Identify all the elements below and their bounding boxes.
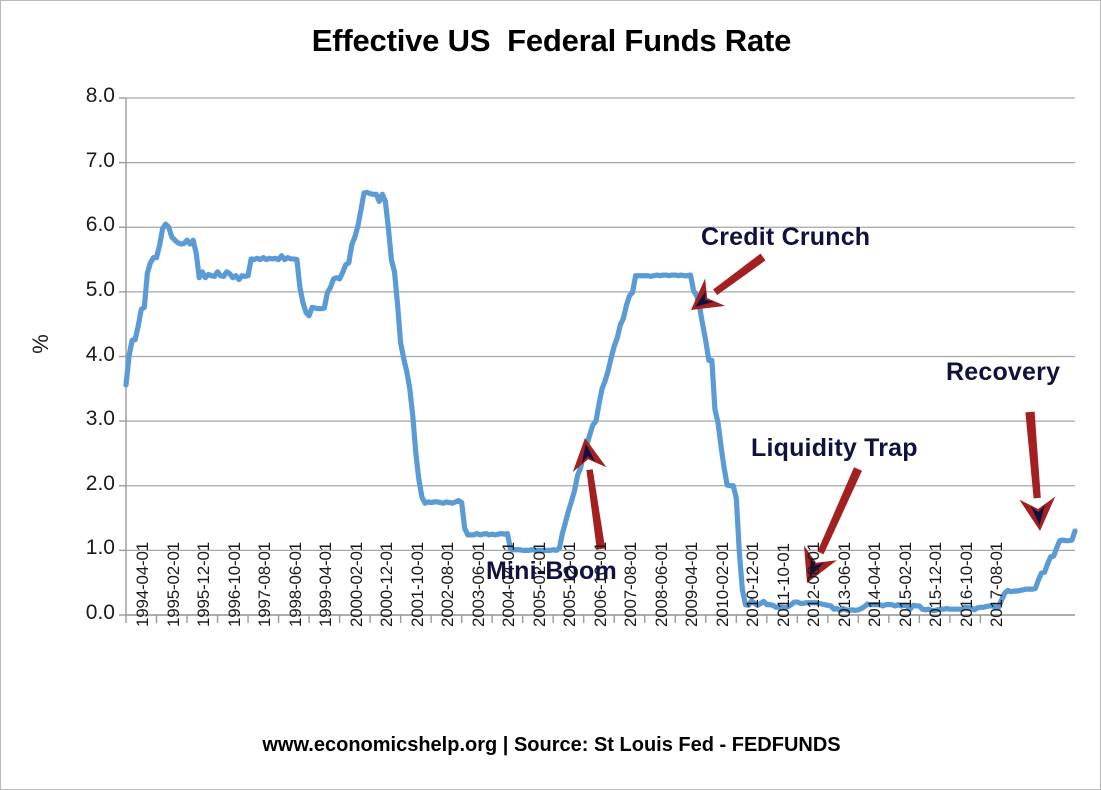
x-axis-tick-label: 1998-06-01 [286,542,306,627]
annotation-label-mini-boom: Mini-Boom [486,557,617,586]
x-axis-tick-label: 1995-12-01 [194,542,214,627]
x-axis-tick-label: 1999-04-01 [316,542,336,627]
x-axis-tick-label: 2007-08-01 [621,542,641,627]
annotation-label-liquidity-trap: Liquidity Trap [751,434,918,463]
x-axis-tick-label: 2017-08-01 [987,542,1007,627]
y-axis-tick-label: 2.0 [45,472,115,496]
annotation-label-credit-crunch: Credit Crunch [701,223,870,252]
plot-area [1,1,1101,790]
x-axis-tick-label: 1994-04-01 [133,542,153,627]
x-axis-tick-label: 2014-04-01 [865,542,885,627]
x-axis-tick-label: 2002-08-01 [438,542,458,627]
x-axis-tick-label: 2008-06-01 [652,542,672,627]
y-axis-tick-label: 5.0 [45,278,115,302]
x-axis-tick-label: 2016-10-01 [957,542,977,627]
annotation-arrows [573,254,1055,583]
annotation-label-recovery: Recovery [946,358,1060,387]
x-axis-tick-label: 1996-10-01 [225,542,245,627]
chart-container: Effective US Federal Funds Rate % 0.01.0… [0,0,1101,790]
footer-source-note: www.economicshelp.org | Source: St Louis… [1,734,1101,757]
y-axis-tick-label: 3.0 [45,407,115,431]
x-axis-tick-label: 2015-12-01 [926,542,946,627]
x-axis-tick-label: 2012-08-01 [804,542,824,627]
y-axis-tick-label: 4.0 [45,343,115,367]
x-axis-tick-label: 2000-12-01 [377,542,397,627]
x-axis-tick-label: 1995-02-01 [164,542,184,627]
y-axis-tick-label: 1.0 [45,536,115,560]
y-axis-tick-label: 6.0 [45,213,115,237]
x-axis-tick-label: 2000-02-01 [347,542,367,627]
x-axis-tick-label: 2010-12-01 [743,542,763,627]
x-axis-tick-label: 2011-10-01 [774,543,794,627]
x-axis-tick-label: 2010-02-01 [713,542,733,627]
y-axis-tick-label: 8.0 [45,84,115,108]
y-axis-tick-label: 7.0 [45,149,115,173]
x-axis-tick-label: 2001-10-01 [408,542,428,627]
x-axis-tick-label: 2009-04-01 [682,542,702,627]
y-axis-tick-label: 0.0 [45,601,115,625]
x-axis-tick-label: 2013-06-01 [835,542,855,627]
x-axis-tick-label: 1997-08-01 [255,542,275,627]
x-axis-tick-label: 2015-02-01 [896,542,916,627]
